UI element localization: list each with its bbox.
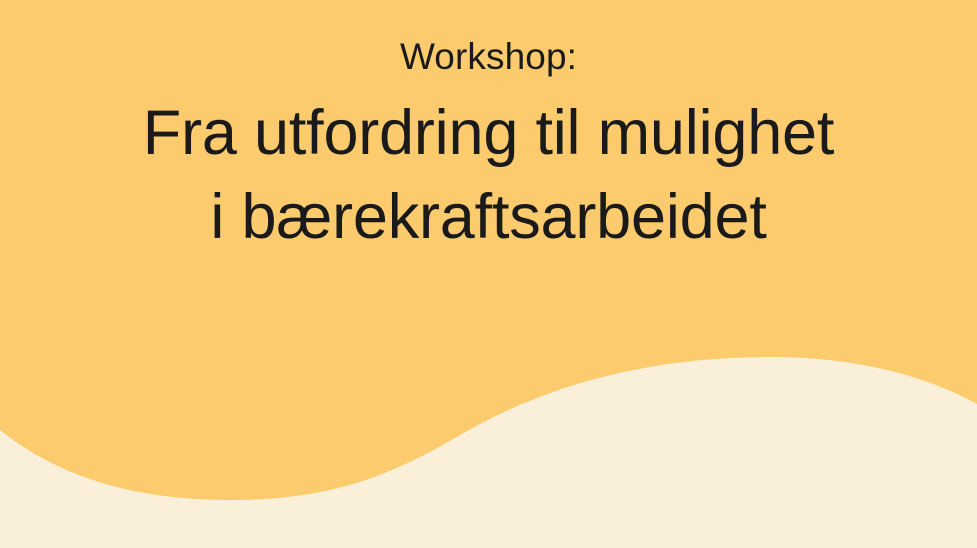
page-title: Fra utfordring til mulighet i bærekrafts… [0, 91, 977, 260]
title-block: Workshop: Fra utfordring til mulighet i … [0, 38, 977, 260]
headline-line-1: Fra utfordring til mulighet [0, 91, 977, 175]
eyebrow-label: Workshop: [0, 38, 977, 75]
headline-line-2: i bærekraftsarbeidet [0, 175, 977, 259]
wave-shape-path [0, 357, 977, 548]
title-slide: Workshop: Fra utfordring til mulighet i … [0, 0, 977, 548]
